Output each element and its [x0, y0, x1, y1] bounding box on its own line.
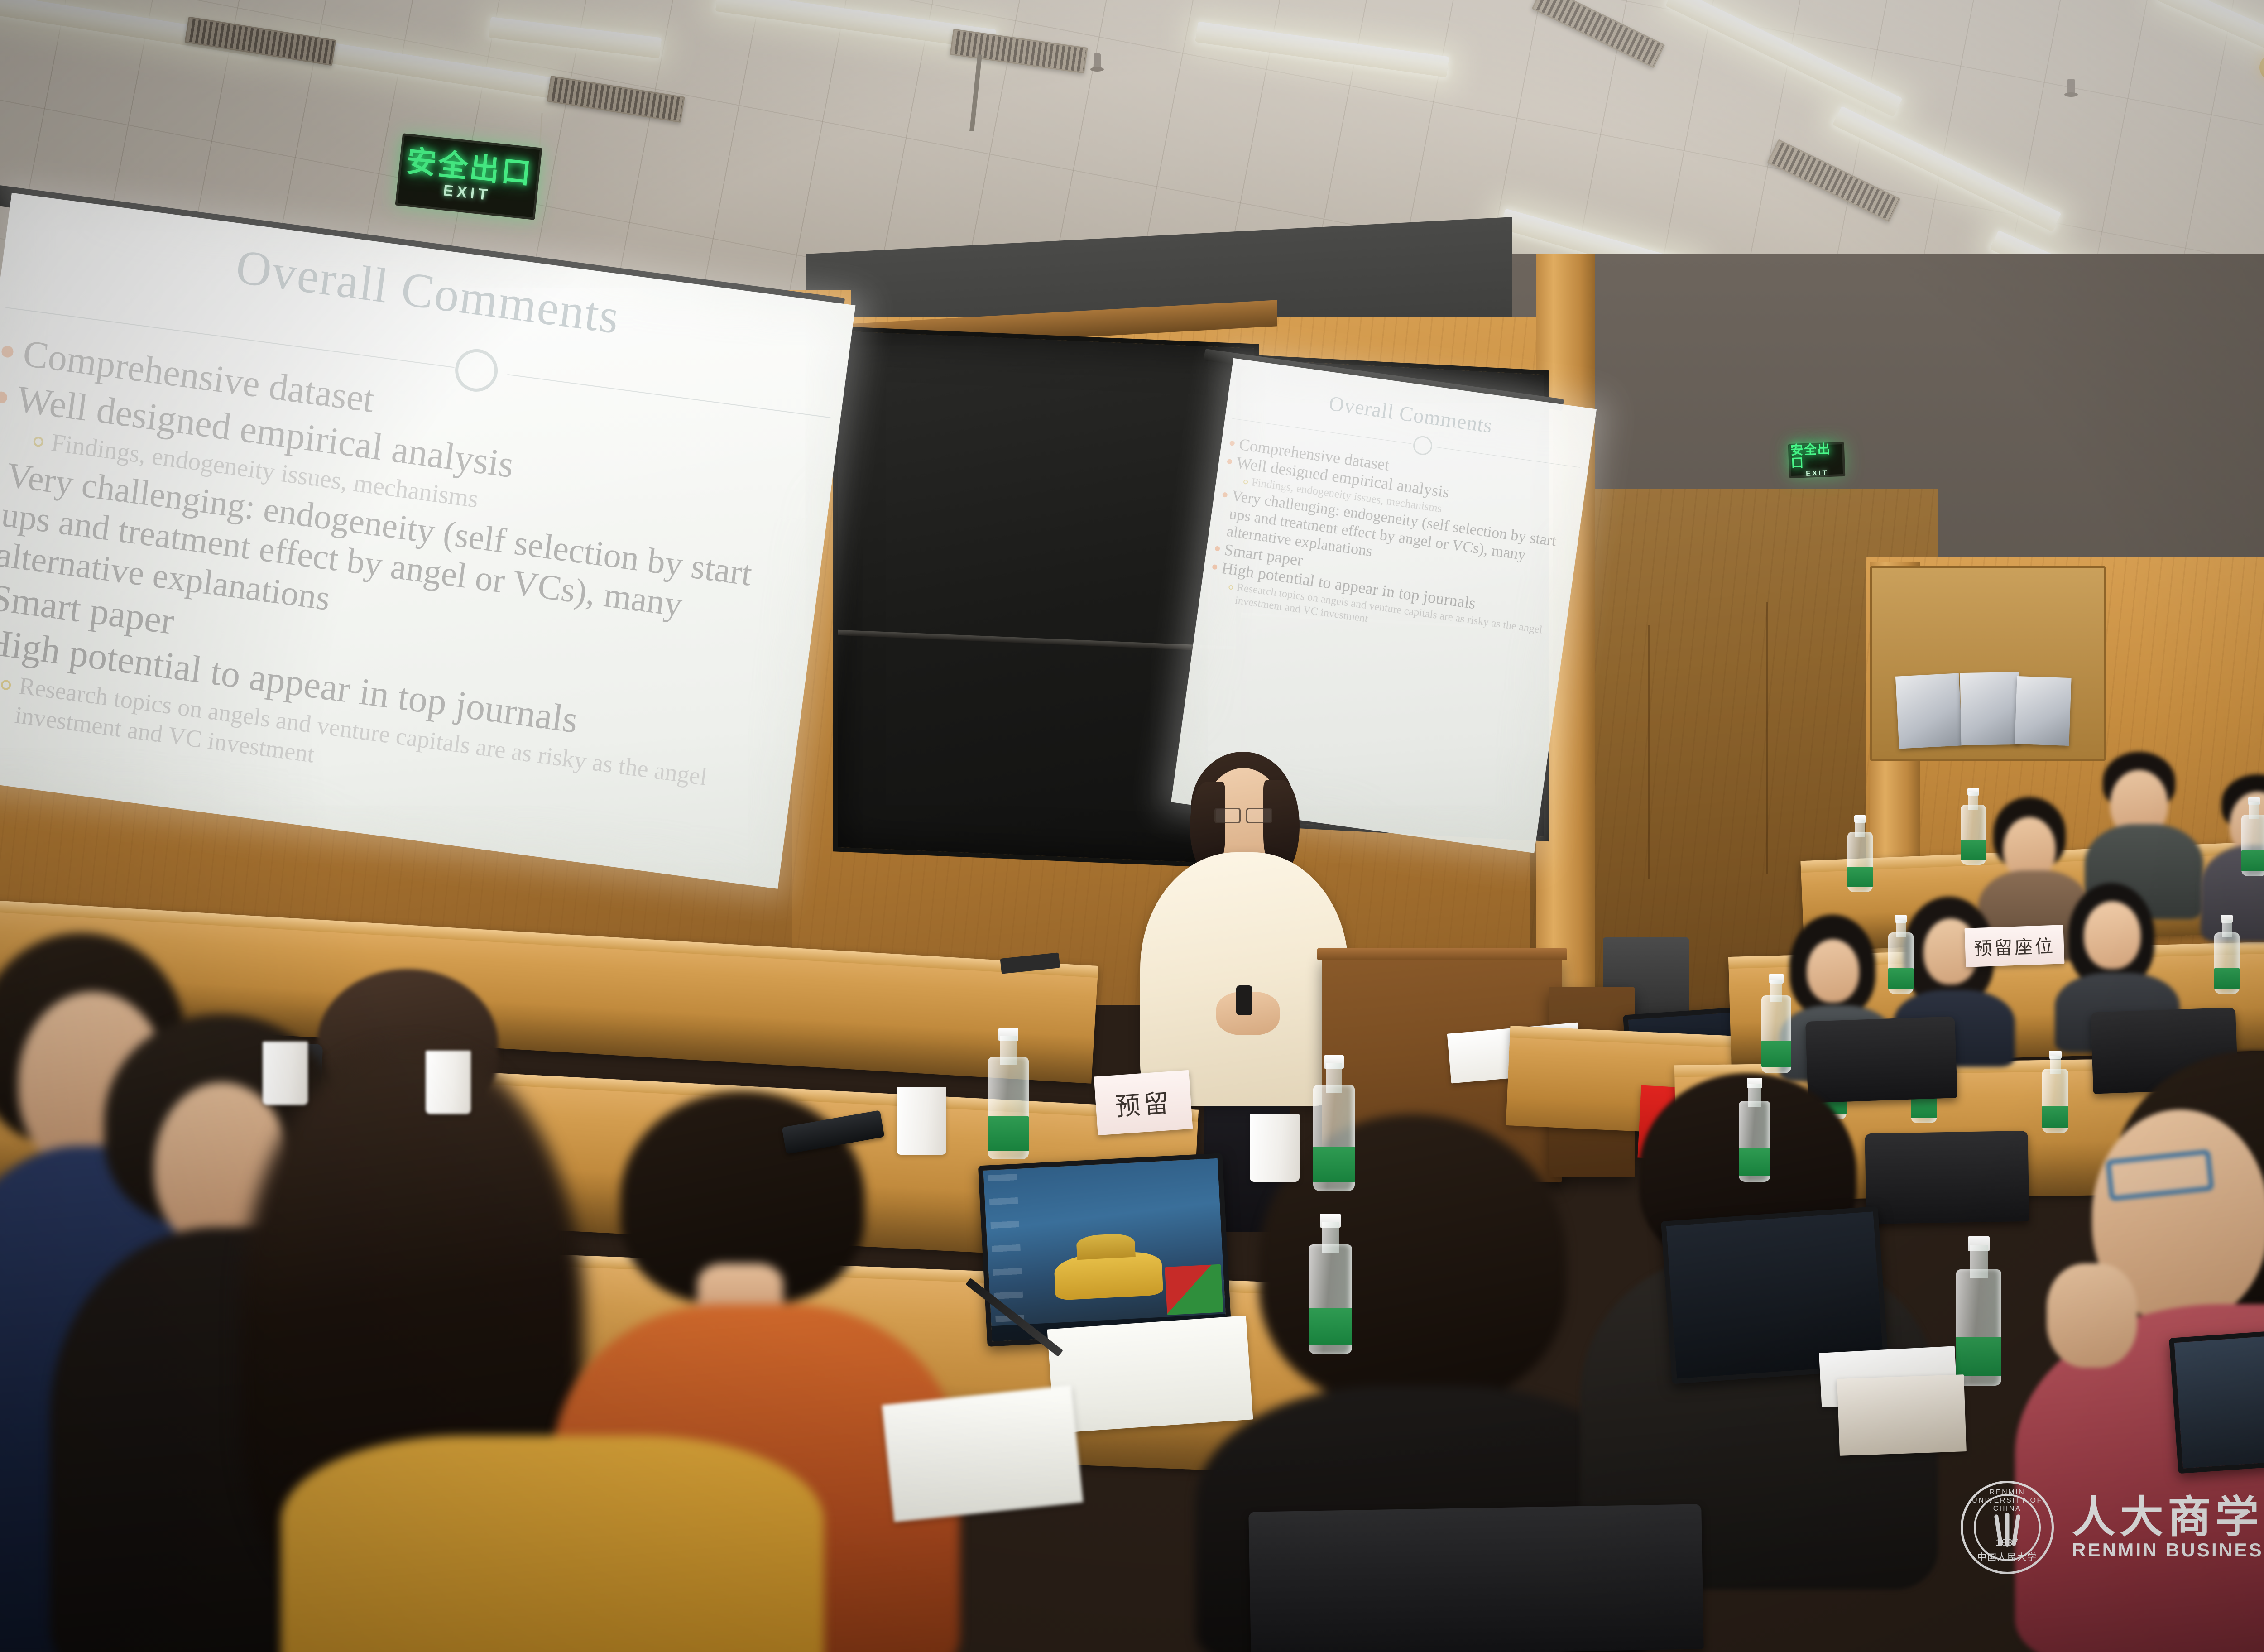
reserved-seat-placard-text: 预留座位	[1973, 932, 2055, 960]
brochure	[1960, 672, 2020, 745]
reserved-placard-text: 预留	[1114, 1082, 1173, 1123]
water-bottle	[1761, 974, 1791, 1073]
bullet-dot-icon	[1212, 564, 1218, 570]
exit-sign-primary[interactable]: 安全出口 EXIT	[395, 133, 542, 220]
bottle-body	[1847, 832, 1873, 892]
exit-sign-english-text: EXIT	[442, 182, 491, 203]
notepad	[882, 1385, 1084, 1522]
bullet-dot-icon	[1214, 546, 1220, 551]
bullet-dot-icon	[0, 391, 8, 404]
bottle-body	[2241, 815, 2264, 877]
brochure	[2015, 676, 2071, 746]
water-bottle	[1961, 788, 1986, 865]
watermark-chinese: 人大商学院	[2072, 1494, 2264, 1540]
bottle-body	[1313, 1085, 1355, 1191]
slide-bullets: Comprehensive dataset Well designed empi…	[0, 329, 826, 831]
bullet-dot-icon	[1227, 459, 1232, 465]
paper-cup	[426, 1051, 471, 1114]
wallpaper-taxi-icon	[1054, 1250, 1164, 1301]
slide-ornament-ring	[452, 346, 500, 394]
university-seal-icon: RENMIN UNIVERSITY OF CHINA 1937 中国人民大学	[1961, 1481, 2054, 1574]
bottle-label	[1956, 1337, 2001, 1377]
slide-divider-right-secondary	[1436, 447, 1580, 468]
exit-sign-english-text-secondary: EXIT	[1806, 470, 1828, 478]
person-torso	[281, 1436, 824, 1652]
lectern-top	[1317, 948, 1567, 960]
wall-panel-seam	[1766, 602, 1768, 874]
watermark-english: RENMIN BUSINESS SCHOOL	[2072, 1540, 2264, 1561]
exit-sign-chinese-text: 安全出口	[405, 146, 534, 189]
person-head	[1807, 939, 1859, 1003]
bottle-label	[1961, 840, 1986, 860]
chalk-rail	[838, 630, 1254, 653]
person-hand	[2047, 1263, 2137, 1368]
bottle-body	[988, 1057, 1029, 1159]
watermark: RENMIN UNIVERSITY OF CHINA 1937 中国人民大学 人…	[1961, 1481, 2264, 1574]
student-tablet[interactable]	[2169, 1325, 2264, 1474]
presenter-glasses	[1214, 808, 1241, 823]
tablet-screen	[2169, 1325, 2264, 1474]
water-bottle	[2241, 797, 2264, 876]
bullet-circle-icon	[0, 679, 12, 691]
presenter-glasses	[1246, 808, 1272, 823]
seal-chinese-text: 中国人民大学	[1963, 1550, 2052, 1563]
watermark-wordmark: 人大商学院 RENMIN BUSINESS SCHOOL	[2072, 1494, 2264, 1561]
bottle-label	[1313, 1147, 1355, 1183]
water-bottle	[988, 1028, 1029, 1159]
bullet-dot-icon	[1, 345, 14, 358]
audience-foreground-yellow-coat	[281, 1436, 824, 1652]
paper-box	[1837, 1374, 1967, 1456]
person-hair	[1259, 1114, 1567, 1404]
reserved-seat-placard: 预留座位	[1965, 925, 2065, 967]
projection-screen-left: Overall Comments Comprehensive dataset W…	[0, 193, 855, 889]
slide-bullets-secondary: Comprehensive dataset Well designed empi…	[1207, 434, 1585, 653]
slide-left: Overall Comments Comprehensive dataset W…	[0, 193, 855, 889]
paper-cup	[263, 1042, 308, 1105]
bullet-circle-icon	[1228, 585, 1233, 590]
slide-ornament-ring-secondary	[1412, 435, 1433, 456]
bottle-label	[1847, 867, 1873, 887]
bottle-body	[1888, 932, 1914, 994]
seat-back-foreground[interactable]	[1248, 1504, 1703, 1652]
bottle-body	[1956, 1269, 2001, 1386]
bottle-body	[1961, 805, 1986, 865]
brochure	[1895, 673, 1962, 749]
bottle-label	[1739, 1148, 1770, 1176]
paper-cup	[897, 1087, 946, 1155]
reserved-placard-foreground: 预留	[1094, 1070, 1193, 1135]
water-bottle	[1739, 1078, 1770, 1182]
seal-year-text: 1937	[1963, 1538, 2052, 1548]
bottle-body	[1761, 995, 1791, 1073]
desktop-tile	[1165, 1264, 1223, 1315]
bottle-body	[1739, 1101, 1770, 1182]
bullet-dot-icon	[1229, 441, 1235, 446]
notepad	[1047, 1316, 1253, 1433]
bottle-label	[2241, 850, 2264, 871]
bottle-body	[2214, 932, 2240, 994]
bottle-label	[1761, 1041, 1791, 1067]
water-bottle	[1313, 1055, 1355, 1191]
person-head	[2084, 901, 2141, 969]
bullet-dot-icon	[1222, 492, 1228, 498]
water-bottle	[1888, 915, 1914, 994]
wall-panel-seam	[1648, 625, 1650, 879]
presenter-clicker	[1236, 985, 1252, 1015]
bottle-label	[988, 1116, 1029, 1151]
exit-sign-chinese-text-secondary: 安全出口	[1790, 442, 1843, 470]
paper-cup	[1250, 1114, 1300, 1182]
bottle-label	[2214, 968, 2240, 989]
water-bottle	[1956, 1236, 2001, 1386]
bullet-circle-icon	[33, 436, 44, 447]
bottle-label	[1888, 968, 1914, 989]
exit-sign-secondary[interactable]: 安全出口 EXIT	[1788, 442, 1846, 478]
audience-member	[2092, 752, 2196, 901]
water-bottle	[2214, 915, 2240, 994]
water-bottle	[1847, 815, 1873, 892]
bullet-circle-icon	[1243, 479, 1248, 484]
lecture-hall-photo: Overall Comments Comprehensive dataset W…	[0, 0, 2264, 1652]
